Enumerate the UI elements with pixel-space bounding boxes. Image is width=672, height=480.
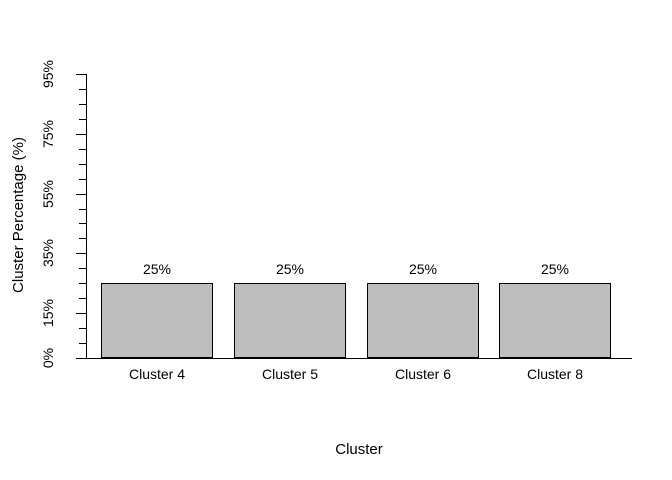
bar-value-label: 25%	[347, 259, 499, 279]
bar	[101, 283, 213, 358]
y-axis-line	[86, 74, 87, 359]
y-axis-tick-minor	[79, 223, 86, 224]
bar-value-label: 25%	[479, 259, 631, 279]
y-axis-tick-minor	[79, 343, 86, 344]
y-axis-tick-label: 0%	[39, 338, 57, 378]
x-axis-category-label: Cluster 8	[479, 364, 631, 384]
y-axis-tick-label-wrap: 75%	[28, 125, 68, 143]
y-axis-tick-minor	[79, 328, 86, 329]
y-axis-tick-minor	[79, 238, 86, 239]
y-axis-tick-label: 55%	[39, 174, 57, 214]
y-axis-tick-label: 75%	[39, 114, 57, 154]
y-axis-tick-minor	[79, 149, 86, 150]
y-axis-tick-minor	[79, 283, 86, 284]
y-axis-tick-minor	[79, 179, 86, 180]
y-axis-tick-minor	[79, 89, 86, 90]
y-axis-tick-label-wrap: 95%	[28, 65, 68, 83]
y-axis-tick-minor	[79, 104, 86, 105]
y-axis-tick-major	[76, 253, 86, 254]
x-axis-category-label: Cluster 6	[347, 364, 499, 384]
bar	[499, 283, 611, 358]
x-axis-category-label: Cluster 4	[81, 364, 233, 384]
y-axis-tick-minor	[79, 298, 86, 299]
y-axis-tick-label-wrap: 35%	[28, 244, 68, 262]
y-axis-tick-major	[76, 313, 86, 314]
barplot-figure: Cluster Percentage (%) Cluster 0%15%35%5…	[0, 0, 672, 480]
y-axis-tick-label: 35%	[39, 233, 57, 273]
y-axis-tick-label-wrap: 55%	[28, 185, 68, 203]
bar-value-label: 25%	[214, 259, 366, 279]
y-axis-tick-major	[76, 134, 86, 135]
bar	[234, 283, 346, 358]
y-axis-tick-minor	[79, 164, 86, 165]
bar	[367, 283, 479, 358]
y-axis-tick-label-wrap: 15%	[28, 304, 68, 322]
y-axis-tick-label-wrap: 0%	[28, 349, 68, 367]
y-axis-tick-minor	[79, 119, 86, 120]
y-axis-tick-major	[76, 194, 86, 195]
bar-value-label: 25%	[81, 259, 233, 279]
y-axis-tick-major	[76, 358, 86, 359]
y-axis-tick-label: 15%	[39, 293, 57, 333]
x-axis-category-label: Cluster 5	[214, 364, 366, 384]
y-axis-tick-minor	[79, 209, 86, 210]
y-axis-title: Cluster Percentage (%)	[8, 65, 30, 365]
y-axis-tick-major	[76, 74, 86, 75]
x-axis-line	[86, 358, 632, 359]
x-axis-title: Cluster	[86, 440, 632, 460]
y-axis-tick-label: 95%	[39, 54, 57, 94]
